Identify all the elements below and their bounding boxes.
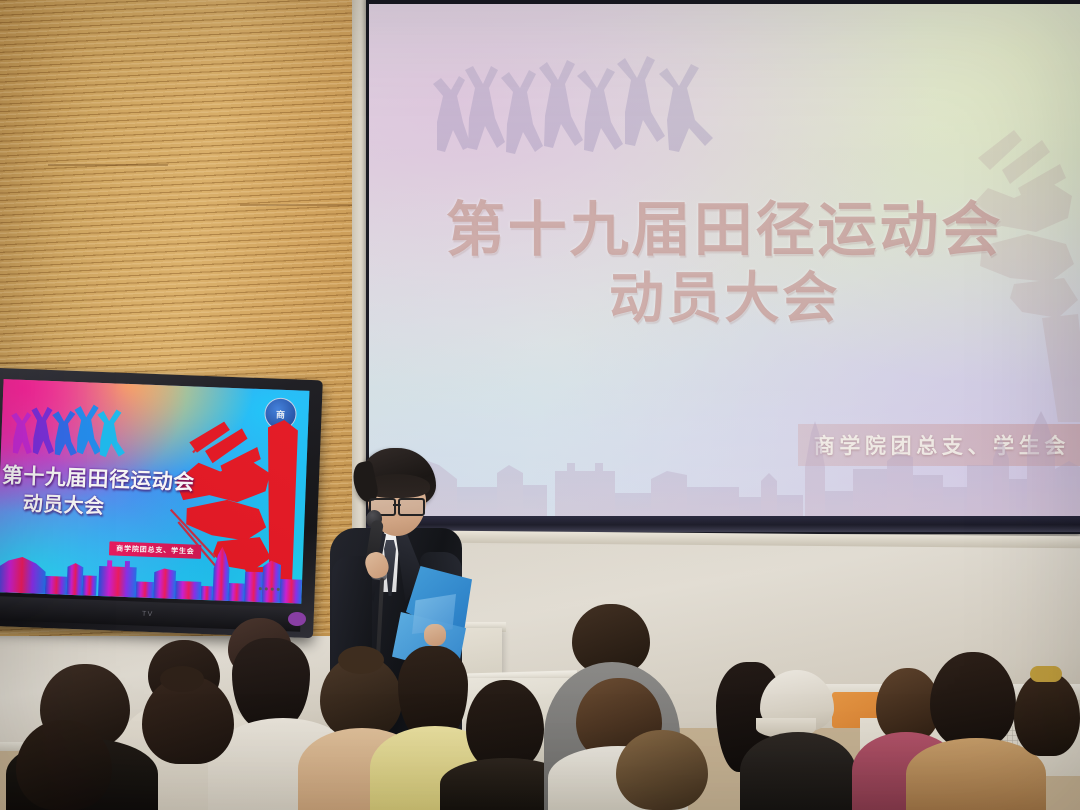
audience-head	[466, 680, 544, 770]
jumping-silhouettes-icon	[421, 26, 751, 176]
audience-head	[398, 646, 468, 738]
audience-hair-tie	[288, 612, 306, 626]
seated-audience	[0, 580, 1080, 810]
audience-head	[1014, 672, 1080, 756]
audience-hair-clip	[1030, 666, 1062, 682]
audience-shoulder	[740, 732, 856, 810]
audience-bun	[160, 666, 204, 692]
wood-seam	[240, 204, 370, 206]
tv-emblem-glyph: 商	[276, 407, 286, 420]
audience-head	[232, 638, 310, 728]
audience-head	[930, 652, 1016, 748]
audience-bun	[338, 646, 384, 674]
tv-jumping-silhouettes-icon	[7, 391, 129, 458]
tv-title-line-1: 第十九届田径运动会	[2, 465, 228, 495]
wood-seam	[0, 362, 70, 364]
photo-canvas: 第十九届田径运动会 动员大会 商学院团总支、学生会	[0, 0, 1080, 810]
audience-head	[16, 720, 112, 810]
projection-screen: 第十九届田径运动会 动员大会 商学院团总支、学生会	[369, 4, 1080, 522]
tv-title-line-2: 动员大会	[23, 493, 227, 521]
torch-hand-graphic-icon	[918, 122, 1080, 422]
tv-title-block: 第十九届田径运动会 动员大会	[1, 465, 228, 521]
audience-head	[616, 730, 708, 810]
tv-screen: 商	[0, 379, 309, 604]
wood-seam	[48, 164, 168, 166]
